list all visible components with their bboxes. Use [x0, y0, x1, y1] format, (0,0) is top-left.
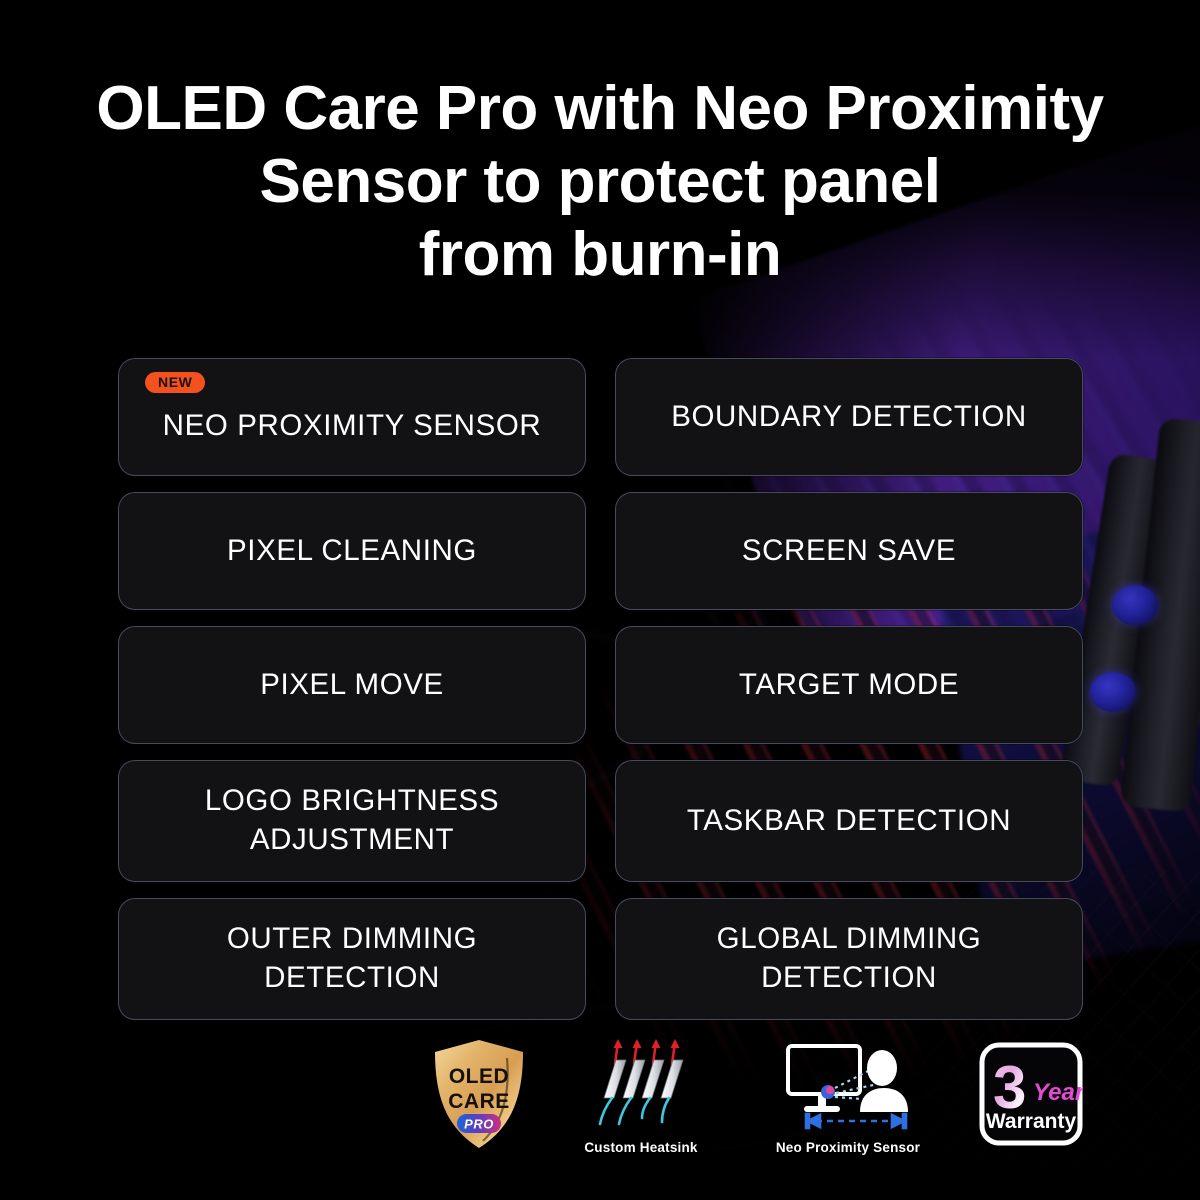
- hardware-knob-upper: [1112, 585, 1158, 625]
- feature-card-target-mode[interactable]: TARGET MODE: [615, 626, 1083, 744]
- badge-three-year-warranty: 3 Year Warranty: [966, 1042, 1096, 1151]
- feature-card-pixel-cleaning[interactable]: PIXEL CLEANING: [118, 492, 586, 610]
- feature-card-logo-brightness-adjustment[interactable]: LOGO BRIGHTNESS ADJUSTMENT: [118, 760, 586, 882]
- hardware-bar-right: [1120, 417, 1200, 812]
- title-line-3: from burn-in: [0, 218, 1200, 291]
- feature-grid: NEW NEO PROXIMITY SENSOR BOUNDARY DETECT…: [118, 358, 1083, 1020]
- svg-text:Warranty: Warranty: [986, 1110, 1077, 1133]
- badge-custom-heatsink: Custom Heatsink: [576, 1038, 706, 1155]
- page-title: OLED Care Pro with Neo Proximity Sensor …: [0, 72, 1200, 291]
- certification-badge-row: OLED CARE PRO: [0, 1036, 1200, 1166]
- neo-proximity-sensor-icon: [778, 1038, 918, 1130]
- feature-card-label: PIXEL MOVE: [246, 666, 458, 705]
- badge-caption: Custom Heatsink: [576, 1140, 706, 1155]
- badge-oled-care-pro: OLED CARE PRO: [414, 1038, 544, 1150]
- feature-card-label: NEO PROXIMITY SENSOR: [149, 407, 556, 446]
- title-line-1: OLED Care Pro with Neo Proximity: [0, 72, 1200, 145]
- new-badge: NEW: [145, 372, 205, 393]
- svg-text:Year: Year: [1033, 1079, 1083, 1106]
- feature-card-label: LOGO BRIGHTNESS ADJUSTMENT: [191, 782, 513, 860]
- feature-card-global-dimming-detection[interactable]: GLOBAL DIMMING DETECTION: [615, 898, 1083, 1020]
- oled-care-pro-shield-icon: OLED CARE PRO: [431, 1038, 527, 1150]
- feature-card-pixel-move[interactable]: PIXEL MOVE: [118, 626, 586, 744]
- feature-card-label: TASKBAR DETECTION: [673, 802, 1025, 841]
- feature-card-label: PIXEL CLEANING: [213, 532, 491, 571]
- svg-text:CARE: CARE: [448, 1090, 510, 1113]
- feature-card-label: SCREEN SAVE: [728, 532, 970, 571]
- feature-card-label: BOUNDARY DETECTION: [657, 398, 1041, 437]
- feature-card-label: GLOBAL DIMMING DETECTION: [703, 920, 996, 998]
- hardware-knob-lower: [1090, 672, 1136, 712]
- feature-card-screen-save[interactable]: SCREEN SAVE: [615, 492, 1083, 610]
- title-line-2: Sensor to protect panel: [0, 145, 1200, 218]
- feature-card-label: OUTER DIMMING DETECTION: [213, 920, 491, 998]
- feature-card-taskbar-detection[interactable]: TASKBAR DETECTION: [615, 760, 1083, 882]
- svg-text:OLED: OLED: [449, 1065, 509, 1088]
- feature-card-neo-proximity-sensor[interactable]: NEW NEO PROXIMITY SENSOR: [118, 358, 586, 476]
- svg-text:PRO: PRO: [464, 1117, 494, 1132]
- badge-caption: Neo Proximity Sensor: [772, 1140, 924, 1155]
- three-year-warranty-icon: 3 Year Warranty: [979, 1042, 1083, 1146]
- feature-card-boundary-detection[interactable]: BOUNDARY DETECTION: [615, 358, 1083, 476]
- badge-neo-proximity-sensor: Neo Proximity Sensor: [772, 1038, 924, 1155]
- custom-heatsink-icon: [582, 1038, 700, 1130]
- promo-banner: OLED Care Pro with Neo Proximity Sensor …: [0, 0, 1200, 1200]
- feature-card-outer-dimming-detection[interactable]: OUTER DIMMING DETECTION: [118, 898, 586, 1020]
- feature-card-label: TARGET MODE: [725, 666, 973, 705]
